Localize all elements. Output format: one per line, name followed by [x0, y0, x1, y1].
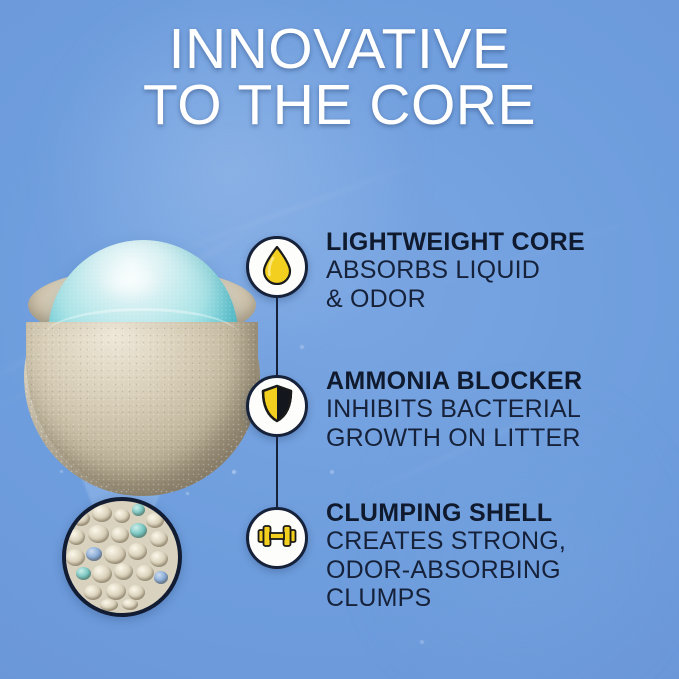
light-speck — [300, 345, 304, 349]
shield-icon — [260, 384, 294, 429]
cutaway-sphere-illustration — [18, 238, 266, 498]
light-speck — [330, 470, 334, 474]
feature-description: CREATES STRONG, ODOR-ABSORBING CLUMPS — [326, 527, 666, 613]
headline-line-2: TO THE CORE — [0, 78, 679, 134]
feature-desc-line: ABSORBS LIQUID — [326, 256, 666, 285]
feature-desc-line: ODOR-ABSORBING — [326, 556, 666, 585]
shield-icon-badge — [246, 375, 308, 437]
infographic-canvas: INNOVATIVE TO THE CORE — [0, 0, 679, 679]
dumbbell-icon-badge — [246, 507, 308, 569]
litter-granules-closeup — [62, 497, 182, 617]
feature-text: AMMONIA BLOCKER INHIBITS BACTERIAL GROWT… — [326, 367, 666, 452]
feature-description: INHIBITS BACTERIAL GROWTH ON LITTER — [326, 395, 666, 452]
light-speck — [420, 640, 424, 644]
connector-line — [276, 437, 278, 507]
droplet-icon — [260, 245, 294, 290]
feature-text: CLUMPING SHELL CREATES STRONG, ODOR-ABSO… — [326, 499, 666, 613]
core-highlight — [82, 252, 178, 310]
connector-line — [276, 298, 278, 375]
feature-title: CLUMPING SHELL — [326, 499, 666, 527]
feature-title: LIGHTWEIGHT CORE — [326, 228, 666, 256]
feature-title: AMMONIA BLOCKER — [326, 367, 666, 395]
dumbbell-icon — [257, 522, 297, 555]
feature-description: ABSORBS LIQUID & ODOR — [326, 256, 666, 313]
feature-text: LIGHTWEIGHT CORE ABSORBS LIQUID & ODOR — [326, 228, 666, 313]
droplet-icon-badge — [246, 236, 308, 298]
feature-desc-line: INHIBITS BACTERIAL — [326, 395, 666, 424]
headline: INNOVATIVE TO THE CORE — [0, 22, 679, 134]
headline-line-1: INNOVATIVE — [169, 17, 511, 81]
feature-desc-line: CLUMPS — [326, 584, 666, 613]
feature-desc-line: CREATES STRONG, — [326, 527, 666, 556]
shell-inner-edge — [44, 308, 240, 365]
feature-desc-line: GROWTH ON LITTER — [326, 424, 666, 453]
feature-desc-line: & ODOR — [326, 285, 666, 314]
